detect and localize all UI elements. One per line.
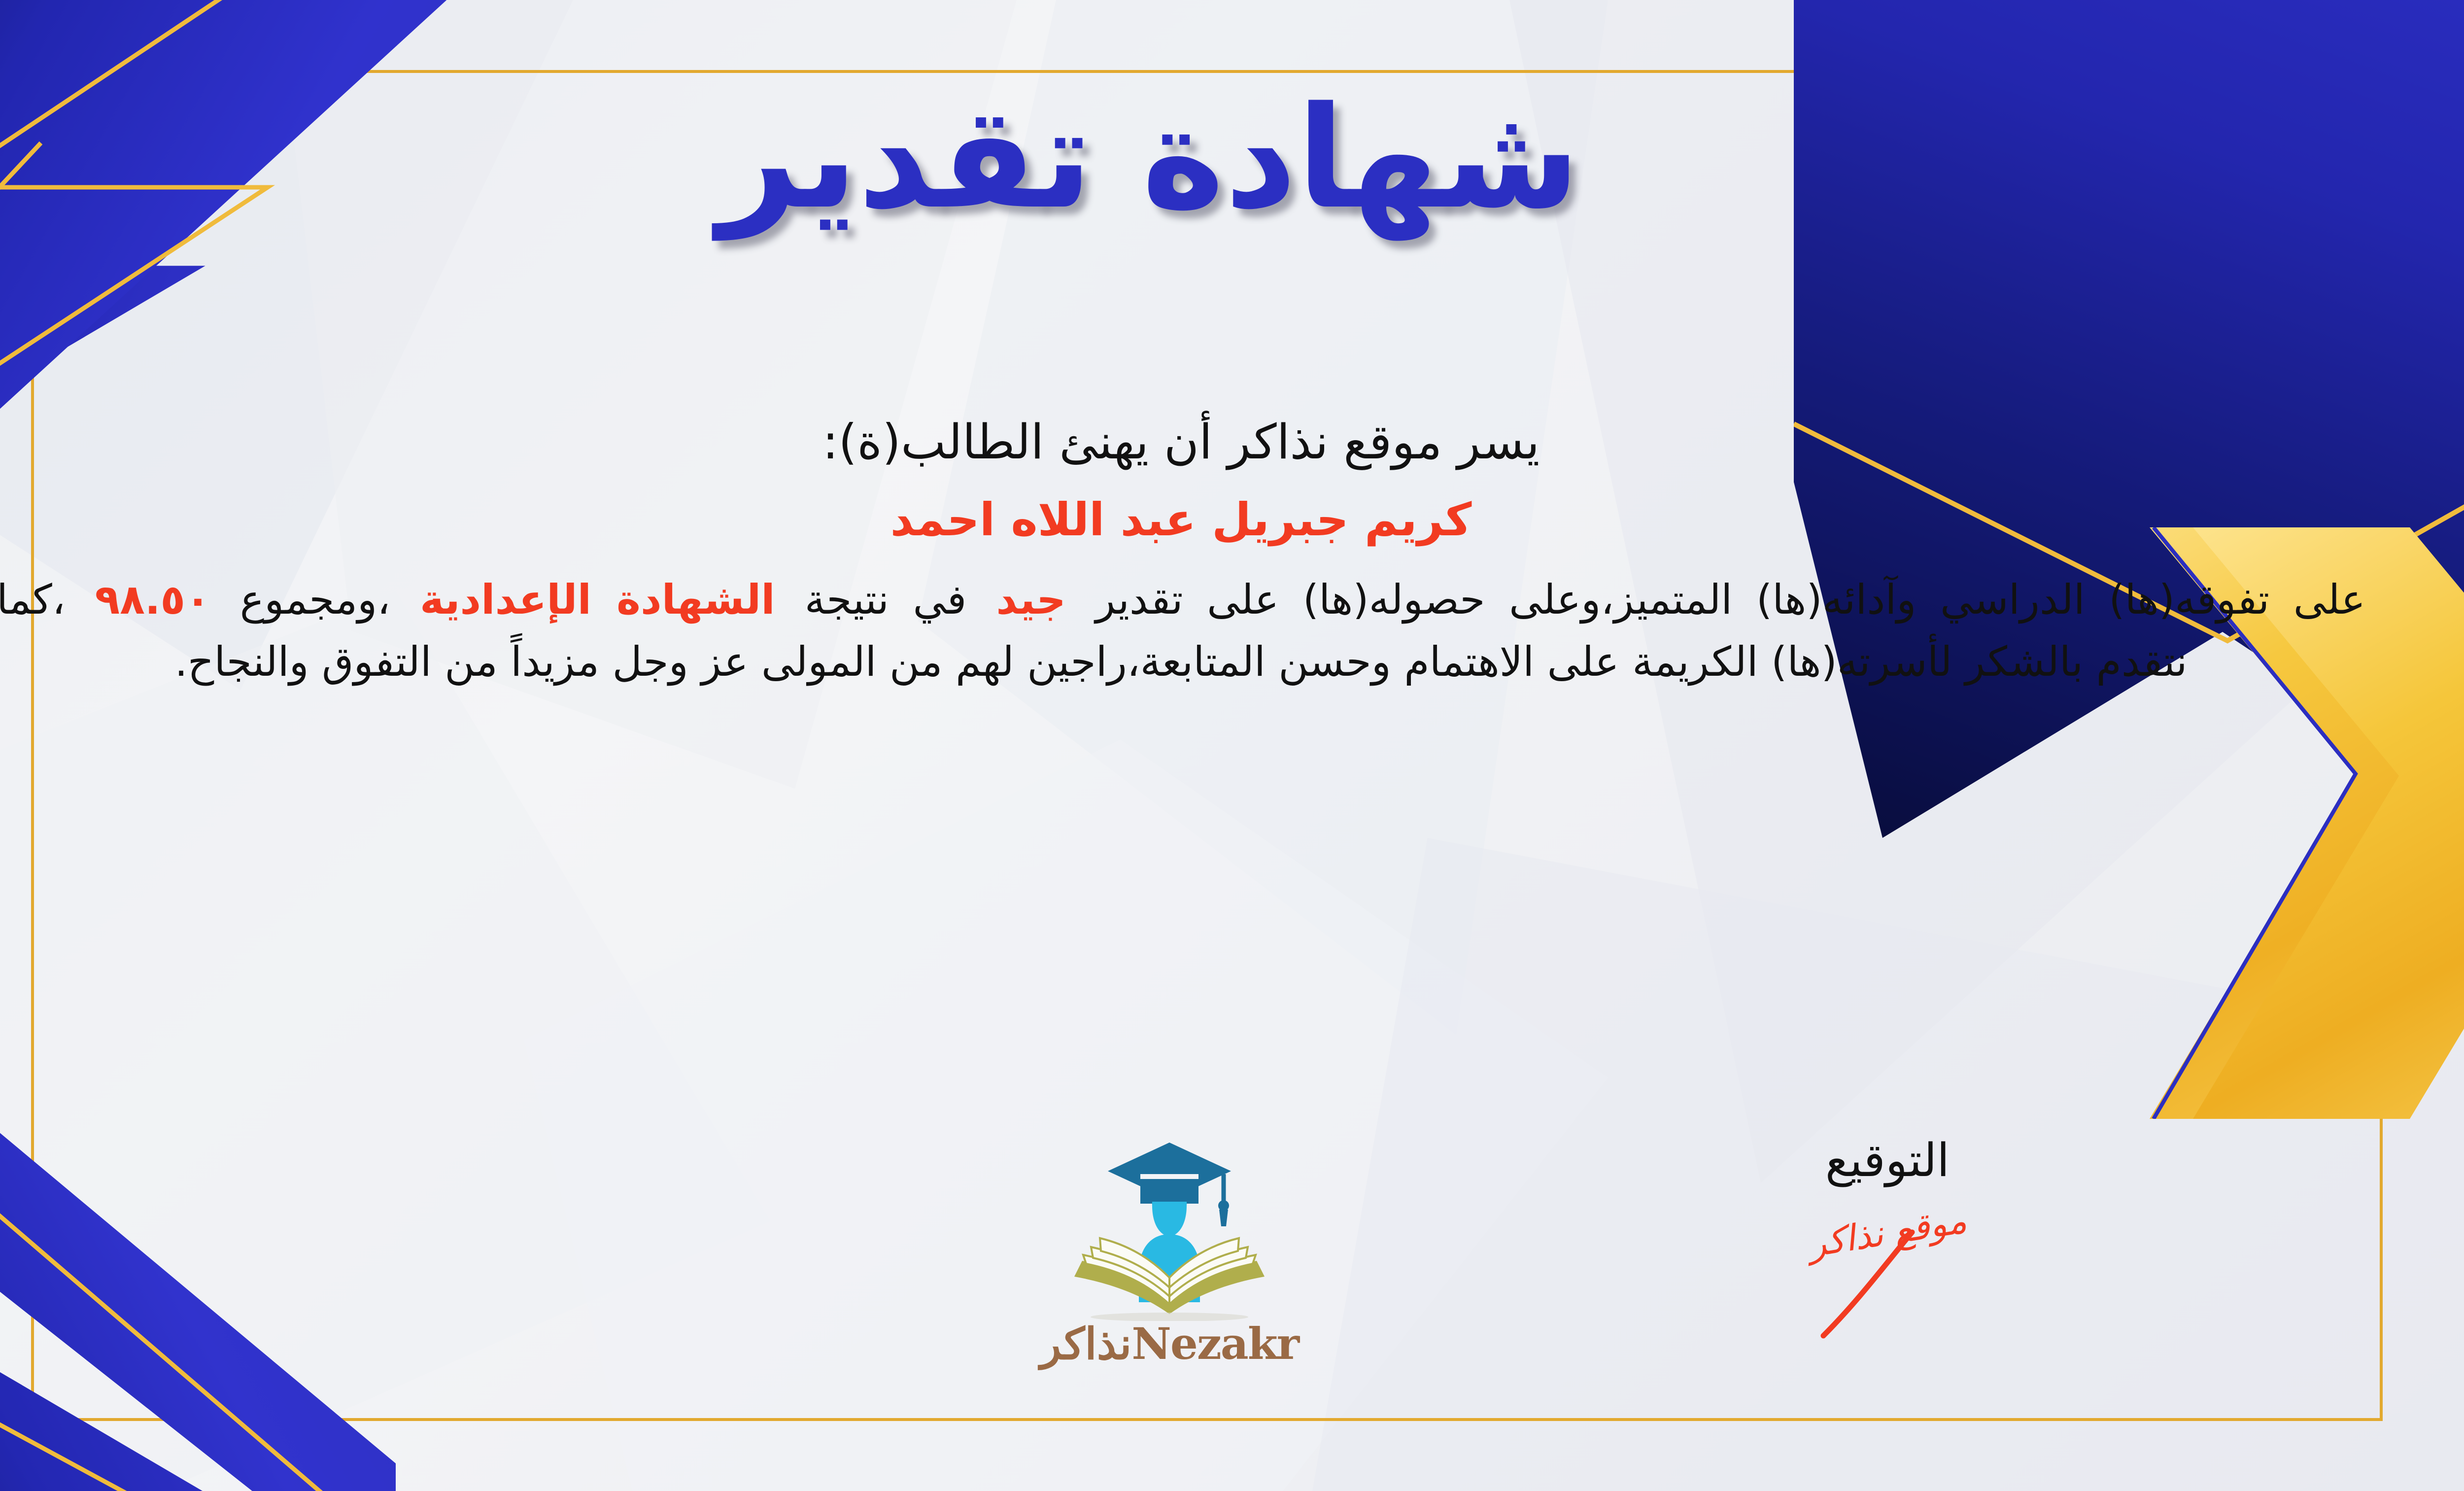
body-segment-3: ،ومجموع (240, 576, 390, 624)
graduate-book-icon (1054, 1129, 1285, 1321)
signature-stroke-icon (1814, 1227, 1922, 1341)
certificate-content: شهادة تقدير يسر موقع نذاكر أن يهنئ الطال… (0, 0, 2464, 1491)
logo-wordmark: Nezakrنذاكر (1012, 1318, 1327, 1369)
student-name: كريم جبريل عبد اللاه احمد (0, 493, 2365, 546)
certificate-body: يسر موقع نذاكر أن يهنئ الطالب(ة): كريم ج… (0, 414, 2365, 693)
body-segment-1: على تفوقه(ها) الدراسي وآدائه(ها) المتميز… (1095, 576, 2365, 624)
total-score: ٩٨.٥٠ (95, 576, 210, 624)
intro-line: يسر موقع نذاكر أن يهنئ الطالب(ة): (0, 414, 2365, 470)
logo-arabic-text: نذاكر (1040, 1318, 1132, 1369)
certificate-title: شهادة تقدير (0, 74, 2464, 243)
exam-name: الشهادة الإعدادية (420, 576, 775, 624)
brand-logo: Nezakrنذاكر (1012, 1129, 1327, 1410)
signature-label: التوقيع (1735, 1134, 2040, 1187)
body-segment-2: في نتيجة (805, 576, 967, 624)
signature-block: التوقيع موقع نذاكر (1735, 1134, 2040, 1253)
logo-latin-text: Nezakr (1131, 1318, 1299, 1369)
certificate-canvas: شهادة تقدير يسر موقع نذاكر أن يهنئ الطال… (0, 0, 2464, 1491)
grade-value: جيد (996, 576, 1066, 624)
achievement-paragraph: على تفوقه(ها) الدراسي وآدائه(ها) المتميز… (0, 569, 2365, 693)
